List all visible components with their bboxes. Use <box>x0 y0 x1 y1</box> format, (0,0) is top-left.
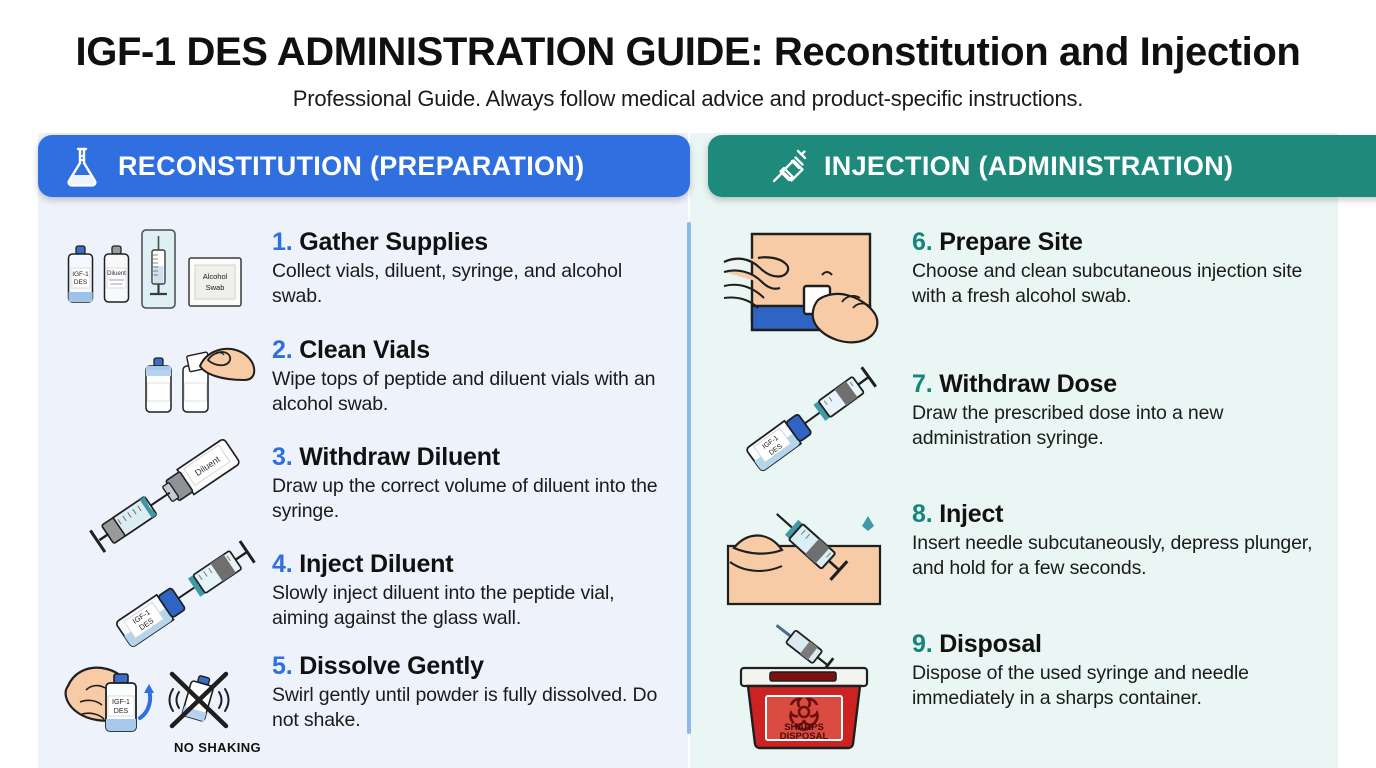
syringe-withdrawing-dose-icon: IGF-1 DES <box>722 370 912 478</box>
step-6-text: 6. Prepare Site Choose and clean subcuta… <box>912 228 1334 309</box>
svg-text:Diluent: Diluent <box>107 271 126 277</box>
step-8-body: Insert needle subcutaneously, depress pl… <box>912 531 1334 581</box>
step-3-text: 3. Withdraw Diluent Draw up the correct … <box>272 443 672 524</box>
step-1: IGF-1 DES Diluent <box>62 228 672 318</box>
step-5-number: 5. <box>272 652 292 680</box>
infographic-page: IGF-1 DES ADMINISTRATION GUIDE: Reconsti… <box>0 0 1376 768</box>
step-7-text: 7. Withdraw Dose Draw the prescribed dos… <box>912 370 1334 451</box>
step-4-body: Slowly inject diluent into the peptide v… <box>272 581 672 631</box>
step-7-number: 7. <box>912 370 932 398</box>
syringe-injecting-vial-icon: IGF-1 DES <box>62 550 272 646</box>
step-8-text: 8. Inject Insert needle subcutaneously, … <box>912 500 1334 581</box>
reconstitution-header: RECONSTITUTION (PREPARATION) <box>38 135 690 197</box>
svg-text:IGF-1: IGF-1 <box>112 699 130 706</box>
page-subtitle: Professional Guide. Always follow medica… <box>0 86 1376 112</box>
step-3-body: Draw up the correct volume of diluent in… <box>272 474 672 524</box>
injection-header: INJECTION (ADMINISTRATION) <box>708 135 1376 197</box>
step-8-title: Inject <box>939 500 1003 528</box>
step-6: 6. Prepare Site Choose and clean subcuta… <box>722 228 1334 350</box>
step-1-text: 1. Gather Supplies Collect vials, diluen… <box>272 228 672 309</box>
hand-wiping-vial-icon <box>62 336 272 422</box>
step-4-heading: 4. Inject Diluent <box>272 550 672 578</box>
svg-text:IGF-1: IGF-1 <box>72 271 89 278</box>
step-1-number: 1. <box>272 228 292 256</box>
step-3: Diluent <box>62 443 672 535</box>
step-5-title: Dissolve Gently <box>299 652 484 680</box>
step-3-number: 3. <box>272 443 292 471</box>
step-2: 2. Clean Vials Wipe tops of peptide and … <box>62 336 672 422</box>
step-7-heading: 7. Withdraw Dose <box>912 370 1334 398</box>
step-6-title: Prepare Site <box>939 228 1083 256</box>
step-5-body: Swirl gently until powder is fully disso… <box>272 683 672 733</box>
step-7: IGF-1 DES <box>722 370 1334 478</box>
step-9-text: 9. Disposal Dispose of the used syringe … <box>912 630 1334 711</box>
syringe-withdrawing-from-vial-icon: Diluent <box>62 443 272 535</box>
injection-header-label: INJECTION (ADMINISTRATION) <box>824 151 1233 182</box>
step-8-heading: 8. Inject <box>912 500 1334 528</box>
step-9-title: Disposal <box>939 630 1042 658</box>
step-6-heading: 6. Prepare Site <box>912 228 1334 256</box>
step-9: SHARPS DISPOSAL 9. Disposal Dispose of t… <box>722 630 1334 755</box>
flask-icon <box>62 145 102 187</box>
reconstitution-header-label: RECONSTITUTION (PREPARATION) <box>118 151 584 182</box>
svg-text:Swab: Swab <box>206 283 225 292</box>
step-5-heading: 5. Dissolve Gently <box>272 652 672 680</box>
step-9-heading: 9. Disposal <box>912 630 1334 658</box>
svg-text:DISPOSAL: DISPOSAL <box>780 731 829 742</box>
abdomen-swab-site-icon <box>722 228 912 350</box>
step-4-title: Inject Diluent <box>299 550 453 578</box>
step-2-number: 2. <box>272 336 292 364</box>
step-4-text: 4. Inject Diluent Slowly inject diluent … <box>272 550 672 631</box>
step-6-body: Choose and clean subcutaneous injection … <box>912 259 1334 309</box>
step-7-title: Withdraw Dose <box>939 370 1117 398</box>
step-2-heading: 2. Clean Vials <box>272 336 672 364</box>
step-3-heading: 3. Withdraw Diluent <box>272 443 672 471</box>
step-5: IGF-1 DES <box>62 652 672 752</box>
hand-swirling-vial-icon: IGF-1 DES <box>62 652 272 752</box>
needle-into-skin-icon <box>722 500 912 612</box>
supplies-icon: IGF-1 DES Diluent <box>62 228 272 318</box>
step-2-text: 2. Clean Vials Wipe tops of peptide and … <box>272 336 672 417</box>
svg-text:DES: DES <box>74 279 88 286</box>
step-2-body: Wipe tops of peptide and diluent vials w… <box>272 367 672 417</box>
step-8-number: 8. <box>912 500 932 528</box>
page-title: IGF-1 DES ADMINISTRATION GUIDE: Reconsti… <box>0 30 1376 75</box>
step-9-number: 9. <box>912 630 932 658</box>
step-4-number: 4. <box>272 550 292 578</box>
step-1-title: Gather Supplies <box>299 228 488 256</box>
no-shaking-caption: NO SHAKING <box>174 740 261 755</box>
step-7-body: Draw the prescribed dose into a new admi… <box>912 401 1334 451</box>
step-9-body: Dispose of the used syringe and needle i… <box>912 661 1334 711</box>
syringe-icon <box>768 145 808 187</box>
step-6-number: 6. <box>912 228 932 256</box>
step-2-title: Clean Vials <box>299 336 430 364</box>
svg-text:DES: DES <box>114 708 129 715</box>
column-divider <box>687 222 691 734</box>
step-8: 8. Inject Insert needle subcutaneously, … <box>722 500 1334 612</box>
step-5-text: 5. Dissolve Gently Swirl gently until po… <box>272 652 672 733</box>
step-1-body: Collect vials, diluent, syringe, and alc… <box>272 259 672 309</box>
svg-text:Alcohol: Alcohol <box>203 272 228 281</box>
sharps-container-icon: SHARPS DISPOSAL <box>722 630 912 755</box>
step-3-title: Withdraw Diluent <box>299 443 500 471</box>
step-4: IGF-1 DES <box>62 550 672 646</box>
step-1-heading: 1. Gather Supplies <box>272 228 672 256</box>
